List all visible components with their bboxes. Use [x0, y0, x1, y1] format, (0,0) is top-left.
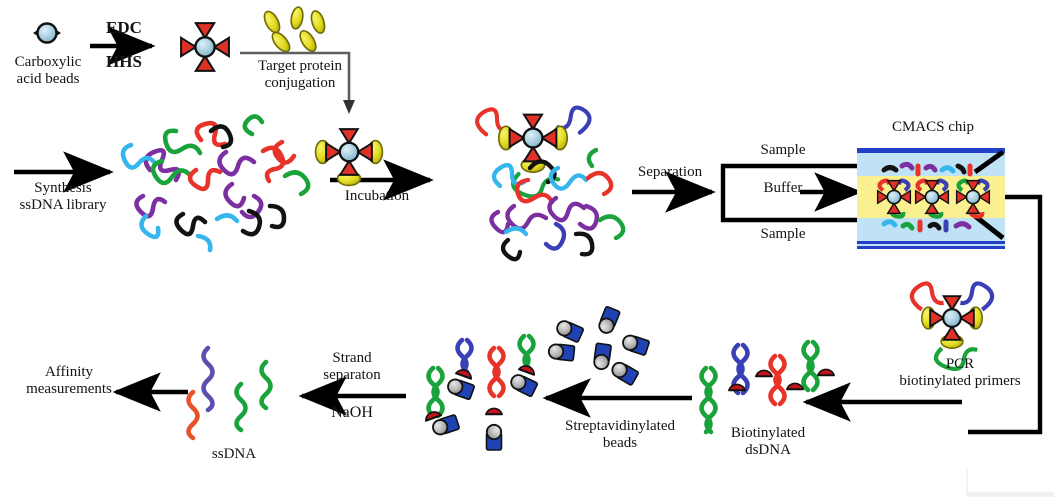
streptavidinylated-beads-icon — [548, 306, 650, 385]
label-cmacs-chip: CMACS chip — [872, 119, 994, 136]
protein-conjugated-bead-icon — [316, 129, 383, 185]
label-strand-separaton: Strand separaton — [296, 350, 408, 384]
diagram-graphics — [0, 0, 1058, 504]
label-incubation: Incubation — [318, 188, 436, 205]
biotinylated-dsdna-icon — [702, 342, 835, 432]
chip-to-pcr-path — [968, 197, 1040, 432]
label-sample-bottom: Sample — [740, 226, 826, 243]
label-streptavidinylated-beads: Streptavidinylated beads — [540, 418, 700, 452]
ssdna-product-icon — [189, 348, 271, 438]
label-ssdna: ssDNA — [186, 446, 282, 463]
label-naoh: NaOH — [300, 404, 404, 422]
bead-bound-dsdna-icon — [423, 336, 538, 450]
label-separation: Separation — [620, 164, 720, 181]
label-affinity-measurements: Affinity measurements — [8, 364, 130, 398]
label-edc: EDC — [92, 18, 156, 37]
label-carboxylic-acid-beads: Carboxylic acid beads — [0, 54, 96, 88]
carboxylic-acid-bead-icon — [33, 24, 61, 43]
label-hhs: HHS — [92, 52, 156, 71]
bead-library-complex-icon — [477, 108, 623, 260]
target-protein-icons — [261, 6, 327, 54]
figure-canvas: Carboxylic acid beads EDC HHS Target pro… — [0, 0, 1058, 504]
label-pcr-biotinylated-primers: PCR biotinylated primers — [874, 356, 1046, 390]
page-artifact — [966, 468, 1054, 497]
label-target-protein-conjugation: Target protein conjugation — [238, 58, 362, 92]
cmacs-chip-icon — [857, 148, 1005, 249]
label-biotinylated-dsdna: Biotinylated dsDNA — [708, 425, 828, 459]
label-synthesis-ssdna-library: Synthesis ssDNA library — [0, 180, 126, 214]
ssdna-library-icon — [123, 116, 308, 250]
activated-bead-icon — [181, 23, 229, 71]
label-sample-top: Sample — [740, 142, 826, 159]
label-buffer: Buffer — [744, 180, 822, 197]
